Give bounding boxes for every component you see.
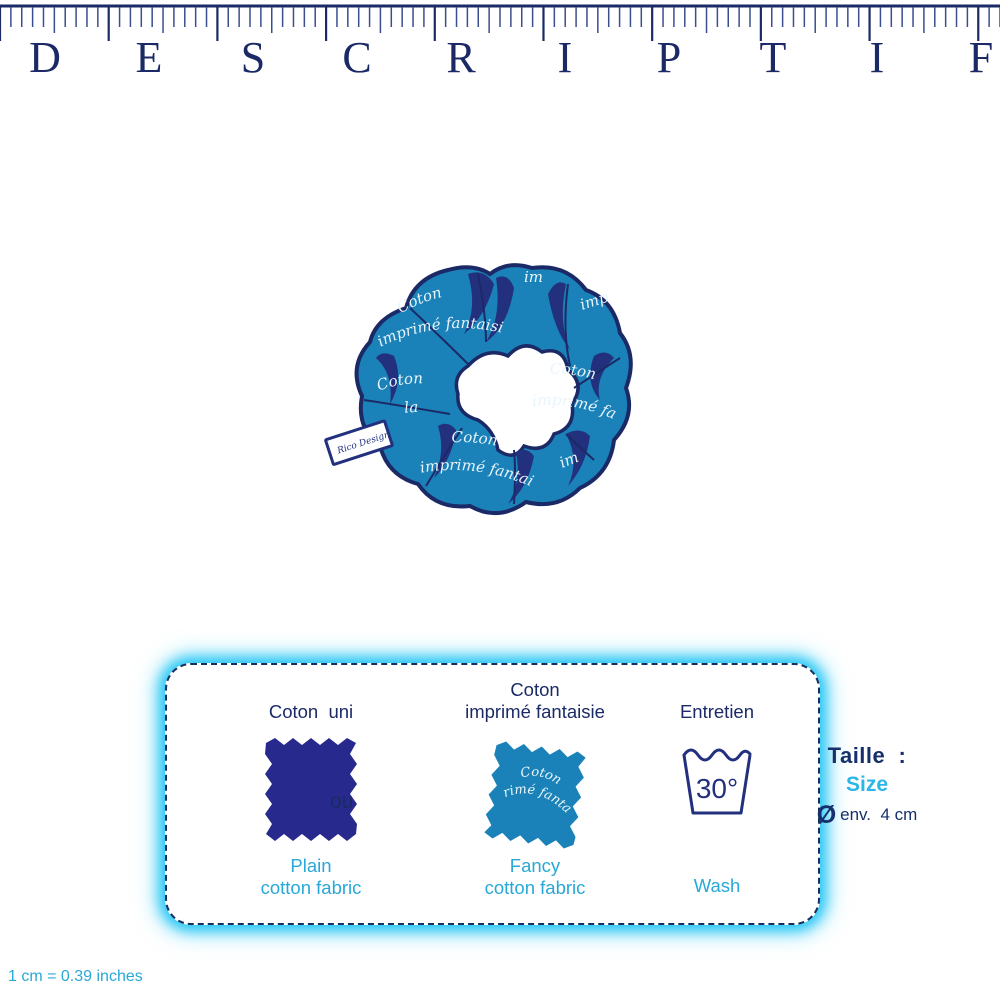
wash-temperature-text: 30°	[696, 773, 738, 804]
scrunchie-illustration: Coton imprimé fantaisie Coton la Coton i…	[318, 238, 658, 538]
size-value-row: Ø env. 4 cm	[777, 802, 957, 827]
size-column: Taille : Size Ø env. 4 cm	[777, 743, 957, 827]
size-label-en: Size	[777, 773, 957, 797]
page-title: DESCRIPTIF	[0, 30, 1000, 85]
plain-fabric-label-fr: Coton uni	[191, 701, 431, 723]
plain-fabric-label-en-line1: Plain	[191, 855, 431, 877]
title-letter-d-0: D	[25, 30, 65, 85]
title-letter-f-9: F	[961, 30, 1000, 85]
plain-fabric-column: Coton uni Plain cotton fabric	[191, 701, 431, 899]
care-label-fr: Entretien	[627, 701, 807, 723]
product-info-box: Coton uni Plain cotton fabric Coton impr…	[165, 663, 820, 925]
care-label-en: Wash	[627, 875, 807, 897]
title-letter-i-8: I	[857, 30, 897, 85]
wash-basin-30-icon: 30°	[672, 743, 762, 825]
title-letter-c-3: C	[337, 30, 377, 85]
fabric-text-im: im	[524, 268, 543, 286]
title-letter-s-2: S	[233, 30, 273, 85]
conversion-note: 1 cm = 0.39 inches	[8, 968, 143, 986]
fancy-fabric-label-en-line1: Fancy	[415, 855, 655, 877]
fancy-fabric-swatch: Coton rimé fantaisie	[477, 737, 593, 853]
title-letter-i-5: I	[545, 30, 585, 85]
fancy-fabric-column: Coton imprimé fantaisie Coton rimé fanta…	[415, 679, 655, 899]
title-letter-p-6: P	[649, 30, 689, 85]
title-letter-t-7: T	[753, 30, 793, 85]
fancy-fabric-label-fr-line1: Coton	[415, 679, 655, 701]
size-value-text: env. 4 cm	[840, 805, 917, 825]
plain-fabric-swatch-wrap	[191, 737, 431, 855]
plain-fabric-label-en-line2: cotton fabric	[191, 877, 431, 899]
title-letter-e-1: E	[129, 30, 169, 85]
diameter-icon: Ø	[817, 803, 836, 828]
fancy-fabric-label-en-line2: cotton fabric	[415, 877, 655, 899]
separator-ou: ou	[330, 790, 353, 814]
fancy-fabric-swatch-wrap: Coton rimé fantaisie	[415, 737, 655, 855]
size-label-fr: Taille :	[777, 743, 957, 769]
fabric-text-la: la	[404, 398, 419, 417]
fancy-fabric-label-fr-line2: imprimé fantaisie	[415, 701, 655, 723]
title-letter-r-4: R	[441, 30, 481, 85]
